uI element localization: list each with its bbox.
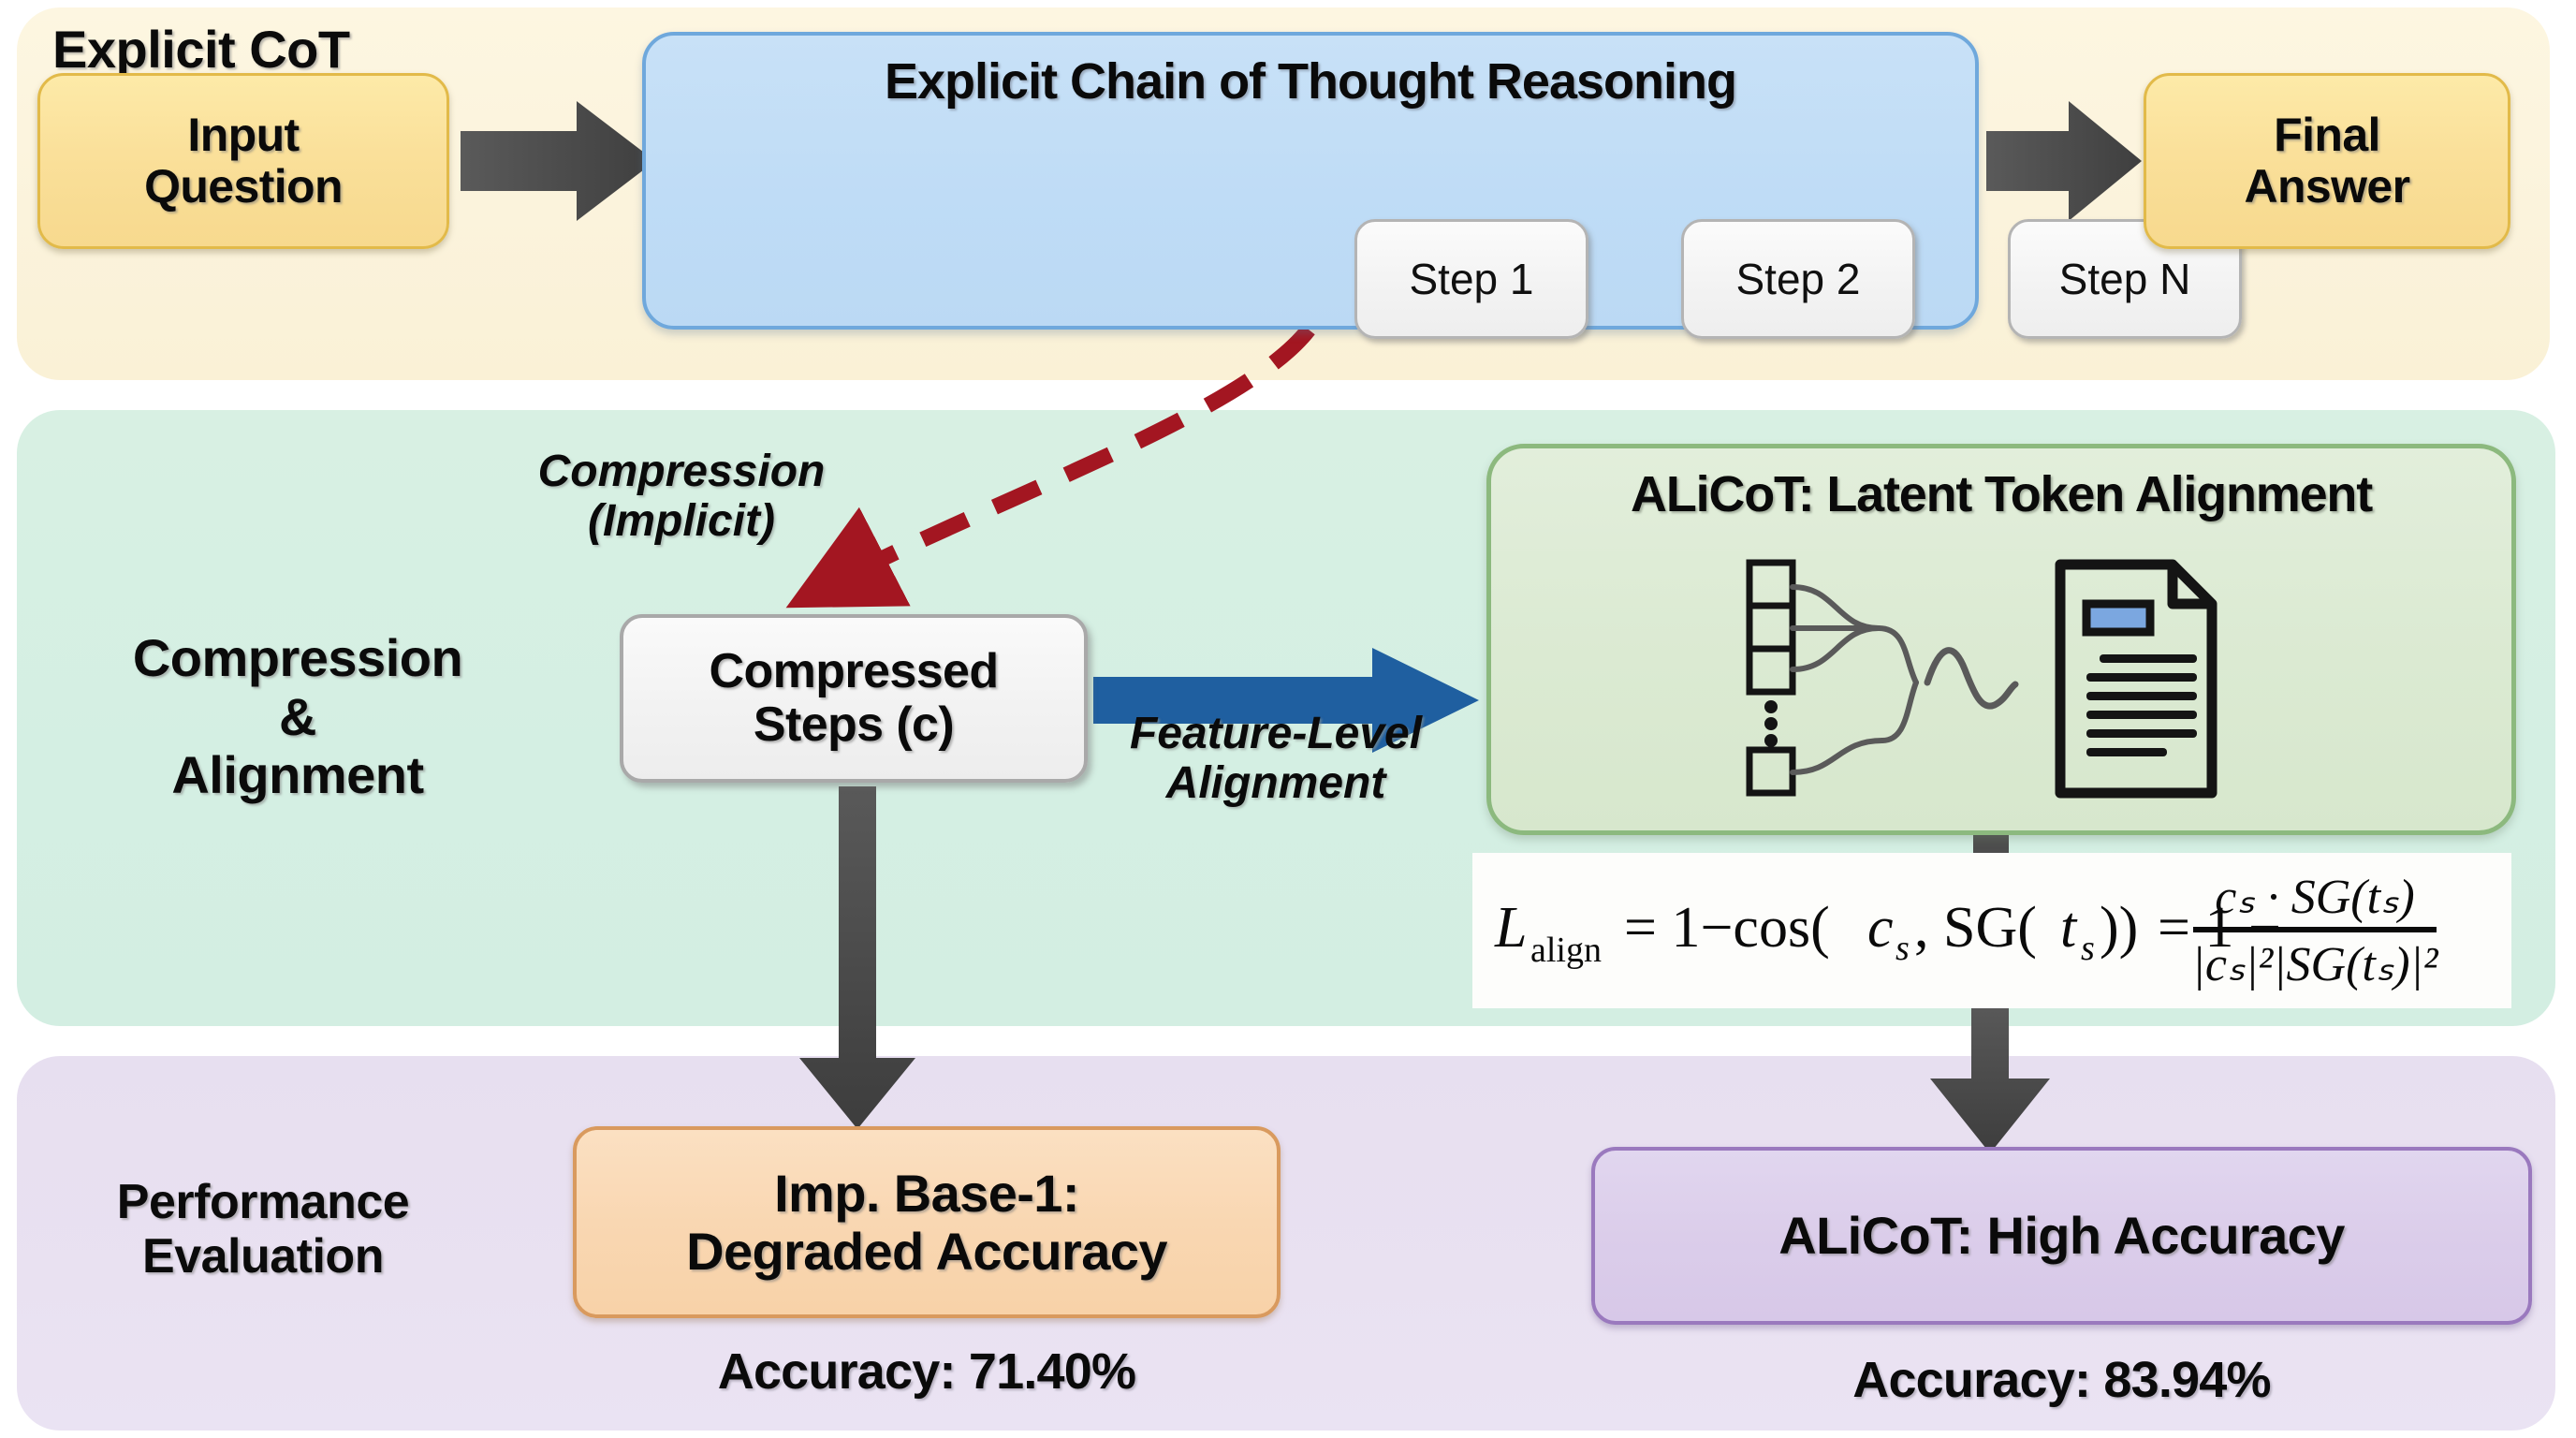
node-compressed-steps[interactable]: Compressed Steps (c) [620,614,1088,783]
token-cell-2 [1749,606,1793,649]
formula-arg2-sub: s [2081,929,2095,968]
document-text-lines [2086,654,2197,756]
formula-close: )) [2100,896,2138,960]
latent-token-alignment-icon [1733,557,2257,812]
node-final-answer[interactable]: Final Answer [2144,73,2510,249]
band-label-performance-line1: Performance [117,1175,409,1229]
input-question-line2: Question [144,160,343,213]
formula-arg2: t [2060,896,2078,960]
alignment-loss-formula: L align = 1−cos( c s , SG( t s )) = 1 − … [1482,860,2502,1001]
step-box-1[interactable]: Step 1 [1354,219,1588,339]
box-explicit-chain-of-thought: Explicit Chain of Thought Reasoning Step… [642,32,1979,330]
formula-arg1-sub: s [1895,929,1910,968]
band-label-compression-line1: Compression [133,628,462,687]
band-label-compression: Compression & Alignment [54,629,541,805]
edge-label-compression-line1: Compression [538,447,826,496]
accuracy-label-base1: Accuracy: 71.40% [573,1343,1281,1401]
diagram-canvas: Explicit CoT Compression & Alignment Per… [0,0,2576,1438]
token-cell-1 [1749,563,1793,606]
node-input-question[interactable]: Input Question [37,73,449,249]
formula-comma: , SG( [1914,896,2037,960]
step-box-2[interactable]: Step 2 [1681,219,1915,339]
formula-arg1: c [1867,896,1894,960]
node-alicot-high-accuracy[interactable]: ALiCoT: High Accuracy [1591,1147,2532,1325]
token-cell-4 [1749,750,1793,793]
box-alignment-loss-formula: L align = 1−cos( c s , SG( t s )) = 1 − … [1472,853,2511,1008]
formula-numerator: cₛ · SG(tₛ) [2215,871,2415,924]
waveform-icon [1927,651,2015,706]
input-question-line1: Input [187,109,299,161]
edge-label-compression-line2: (Implicit) [588,496,775,546]
final-answer-line2: Answer [2244,160,2409,213]
formula-lhs-sub: align [1530,931,1602,970]
base1-line1: Imp. Base-1: [774,1164,1079,1223]
base1-line2: Degraded Accuracy [686,1222,1167,1281]
band-label-performance: Performance Evaluation [62,1175,464,1284]
edge-label-compression: Compression (Implicit) [494,448,869,547]
edge-label-feature-level-alignment: Feature-Level Alignment [1075,710,1477,809]
compressed-steps-line1: Compressed [710,644,999,698]
edge-label-feature-line2: Alignment [1166,758,1386,808]
formula-eq1: = 1−cos( [1624,896,1830,960]
accuracy-label-alicot: Accuracy: 83.94% [1591,1351,2532,1409]
alicot-perf-label: ALiCoT: High Accuracy [1778,1207,2345,1265]
token-ellipsis-icon [1764,700,1778,747]
band-label-explicit-cot: Explicit CoT [52,21,350,80]
formula-lhs: L [1494,896,1527,960]
edge-label-feature-line1: Feature-Level [1130,709,1422,758]
final-answer-line1: Final [2274,109,2380,161]
formula-denominator: |cₛ|²|SG(tₛ)|² [2192,938,2439,991]
converging-lines-icon [1793,587,1916,772]
cot-box-title: Explicit Chain of Thought Reasoning [646,52,1975,110]
box-alicot-latent-token-alignment: ALiCoT: Latent Token Alignment [1486,444,2516,835]
compressed-steps-line2: Steps (c) [754,697,954,752]
token-cell-3 [1749,649,1793,692]
document-header-field [2086,604,2150,632]
band-label-performance-line2: Evaluation [142,1229,384,1284]
document-icon [2060,565,2212,793]
alicot-box-title: ALiCoT: Latent Token Alignment [1491,465,2511,523]
node-imp-base1-degraded-accuracy[interactable]: Imp. Base-1: Degraded Accuracy [573,1126,1281,1318]
band-label-compression-line3: Alignment [171,745,423,804]
band-label-compression-line2: & [279,687,316,746]
